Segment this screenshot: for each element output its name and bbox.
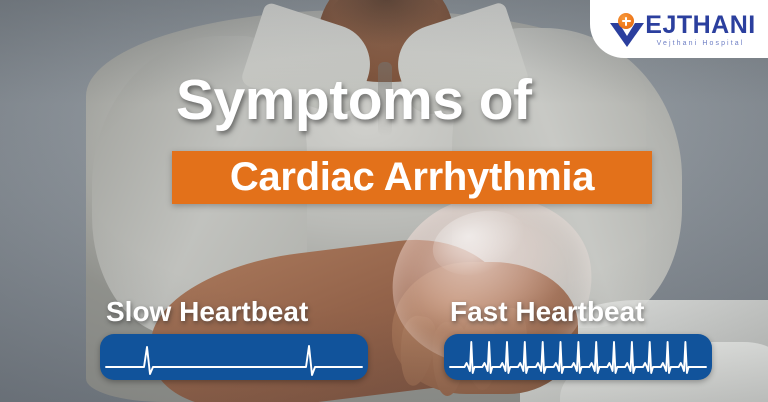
fast-heartbeat-ecg-box: [444, 334, 712, 380]
medical-cross-icon: [618, 13, 634, 29]
fast-heartbeat-card: Fast Heartbeat: [444, 298, 712, 380]
logo-panel: EJTHANI Vejthani Hospital: [590, 0, 768, 58]
headline-banner: Cardiac Arrhythmia: [172, 151, 652, 204]
slow-heartbeat-card: Slow Heartbeat: [100, 298, 368, 380]
v-chevron-icon: [610, 15, 644, 47]
vejthani-logo: EJTHANI Vejthani Hospital: [610, 13, 755, 47]
logo-text: EJTHANI Vejthani Hospital: [645, 13, 755, 47]
headline-line-1: Symptoms of: [176, 72, 532, 129]
logo-wordmark: EJTHANI: [645, 13, 755, 38]
ecg-waveform-fast-icon: [444, 334, 712, 380]
slow-heartbeat-ecg-box: [100, 334, 368, 380]
fast-heartbeat-label: Fast Heartbeat: [450, 298, 712, 326]
logo-tagline: Vejthani Hospital: [645, 40, 755, 47]
slow-heartbeat-label: Slow Heartbeat: [106, 298, 368, 326]
headline-line-2: Cardiac Arrhythmia: [230, 155, 594, 200]
ecg-waveform-slow-icon: [100, 334, 368, 380]
infographic-banner: EJTHANI Vejthani Hospital Symptoms of Ca…: [0, 0, 768, 402]
